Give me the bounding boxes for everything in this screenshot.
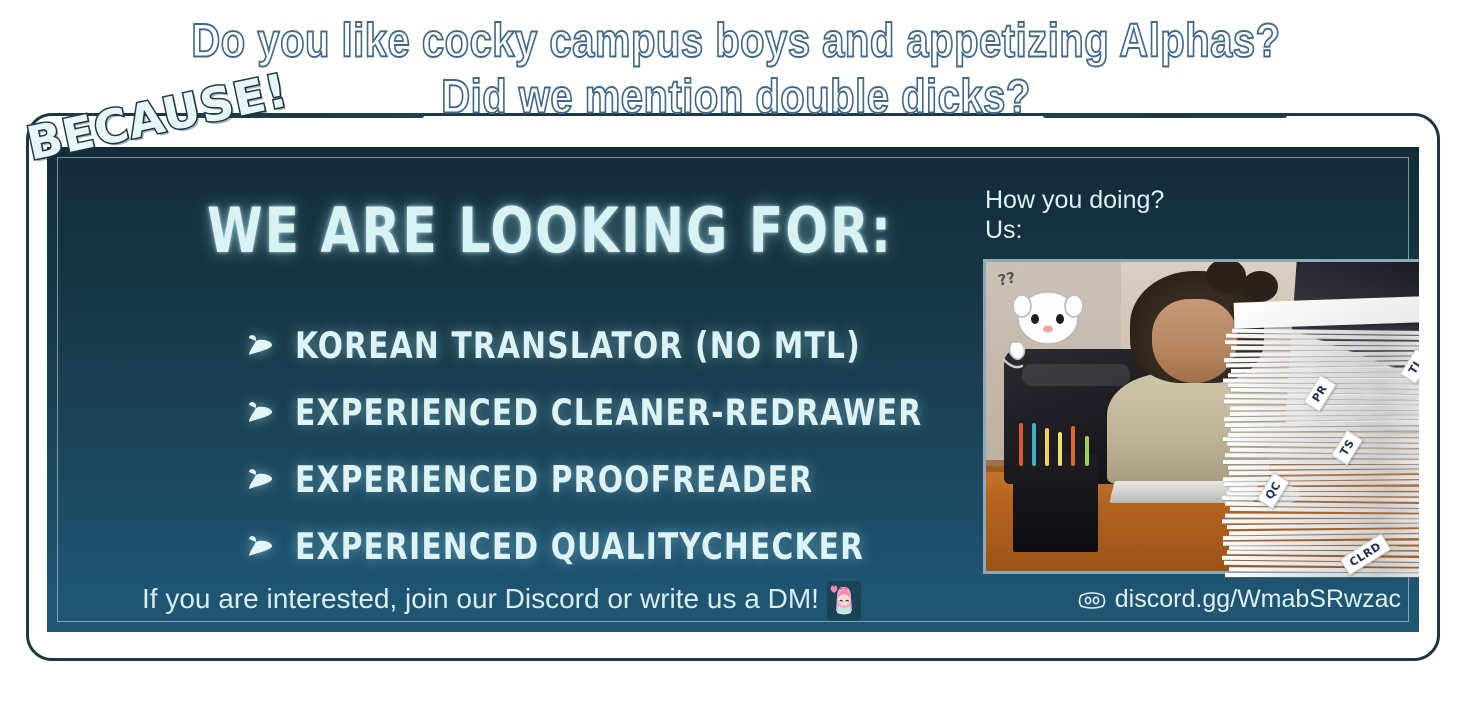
paper-sheet bbox=[1230, 486, 1419, 490]
heart-bullet-icon bbox=[247, 469, 273, 491]
role-label: EXPERIENCED CLEANER-REDRAWER bbox=[295, 391, 922, 434]
role-label: EXPERIENCED PROOFREADER bbox=[295, 458, 813, 501]
paper-stack: PR TL TS QC CLRD bbox=[1225, 309, 1419, 577]
discord-icon bbox=[1078, 589, 1106, 610]
left-column: WE ARE LOOKING FOR: KOREAN TRANSLATOR (N… bbox=[47, 147, 927, 632]
heart-bullet-icon bbox=[247, 402, 273, 424]
paper-sheet bbox=[1225, 513, 1419, 518]
paper-sheet bbox=[1230, 351, 1419, 356]
paper-sheet bbox=[1225, 453, 1419, 459]
paper-sheet bbox=[1225, 340, 1419, 346]
meme-pen-cup bbox=[1013, 454, 1098, 553]
page-title: WE ARE LOOKING FOR: bbox=[207, 195, 893, 268]
discord-invite-text: discord.gg/WmabSRwzac bbox=[1115, 585, 1401, 614]
recruitment-panel: WE ARE LOOKING FOR: KOREAN TRANSLATOR (N… bbox=[47, 147, 1419, 632]
role-label: KOREAN TRANSLATOR (NO MTL) bbox=[295, 324, 861, 367]
heart-bullet-icon bbox=[247, 536, 273, 558]
discord-invite-link[interactable]: discord.gg/WmabSRwzac bbox=[1078, 585, 1401, 614]
paper-sheet bbox=[1224, 480, 1419, 486]
paper-sheet bbox=[1229, 567, 1419, 573]
call-to-action: If you are interested, join our Discord … bbox=[142, 579, 861, 619]
list-item: KOREAN TRANSLATOR (NO MTL) bbox=[247, 312, 922, 379]
page-headline: Do you like cocky campus boys and appeti… bbox=[0, 18, 1472, 120]
roles-list: KOREAN TRANSLATOR (NO MTL) EXPERIENCED C… bbox=[247, 312, 922, 580]
paper-sheet bbox=[1223, 540, 1419, 545]
paper-sheet bbox=[1222, 519, 1419, 524]
list-item: EXPERIENCED PROOFREADER bbox=[247, 446, 922, 513]
anime-girl-emoji-icon bbox=[827, 581, 861, 621]
paper-sheet bbox=[1228, 432, 1419, 436]
paper-sheet bbox=[1230, 405, 1419, 410]
cartoon-dog-icon bbox=[1002, 284, 1088, 376]
meme-image: ?? PR TL TS QC bbox=[983, 259, 1419, 574]
paper-sheet bbox=[1231, 427, 1419, 432]
heart-bullet-icon bbox=[247, 335, 273, 357]
list-item: EXPERIENCED QUALITYCHECKER bbox=[247, 513, 922, 580]
list-item: EXPERIENCED CLEANER-REDRAWER bbox=[247, 379, 922, 446]
meme-caption: How you doing? Us: bbox=[985, 185, 1164, 245]
paper-sheet bbox=[1230, 507, 1419, 513]
meme-caption-line-2: Us: bbox=[985, 215, 1164, 245]
call-to-action-label: If you are interested, join our Discord … bbox=[142, 583, 819, 615]
right-column: How you doing? Us: bbox=[935, 147, 1419, 632]
meme-hair-bun-right bbox=[1242, 271, 1278, 302]
meme-caption-line-1: How you doing? bbox=[985, 185, 1164, 215]
meme-pencils bbox=[1013, 423, 1107, 466]
headline-line-1: Do you like cocky campus boys and appeti… bbox=[0, 14, 1472, 68]
paper-sheet bbox=[1225, 573, 1419, 577]
paper-sheet bbox=[1231, 346, 1419, 350]
paper-sheet bbox=[1223, 460, 1419, 464]
role-label: EXPERIENCED QUALITYCHECKER bbox=[295, 525, 864, 568]
